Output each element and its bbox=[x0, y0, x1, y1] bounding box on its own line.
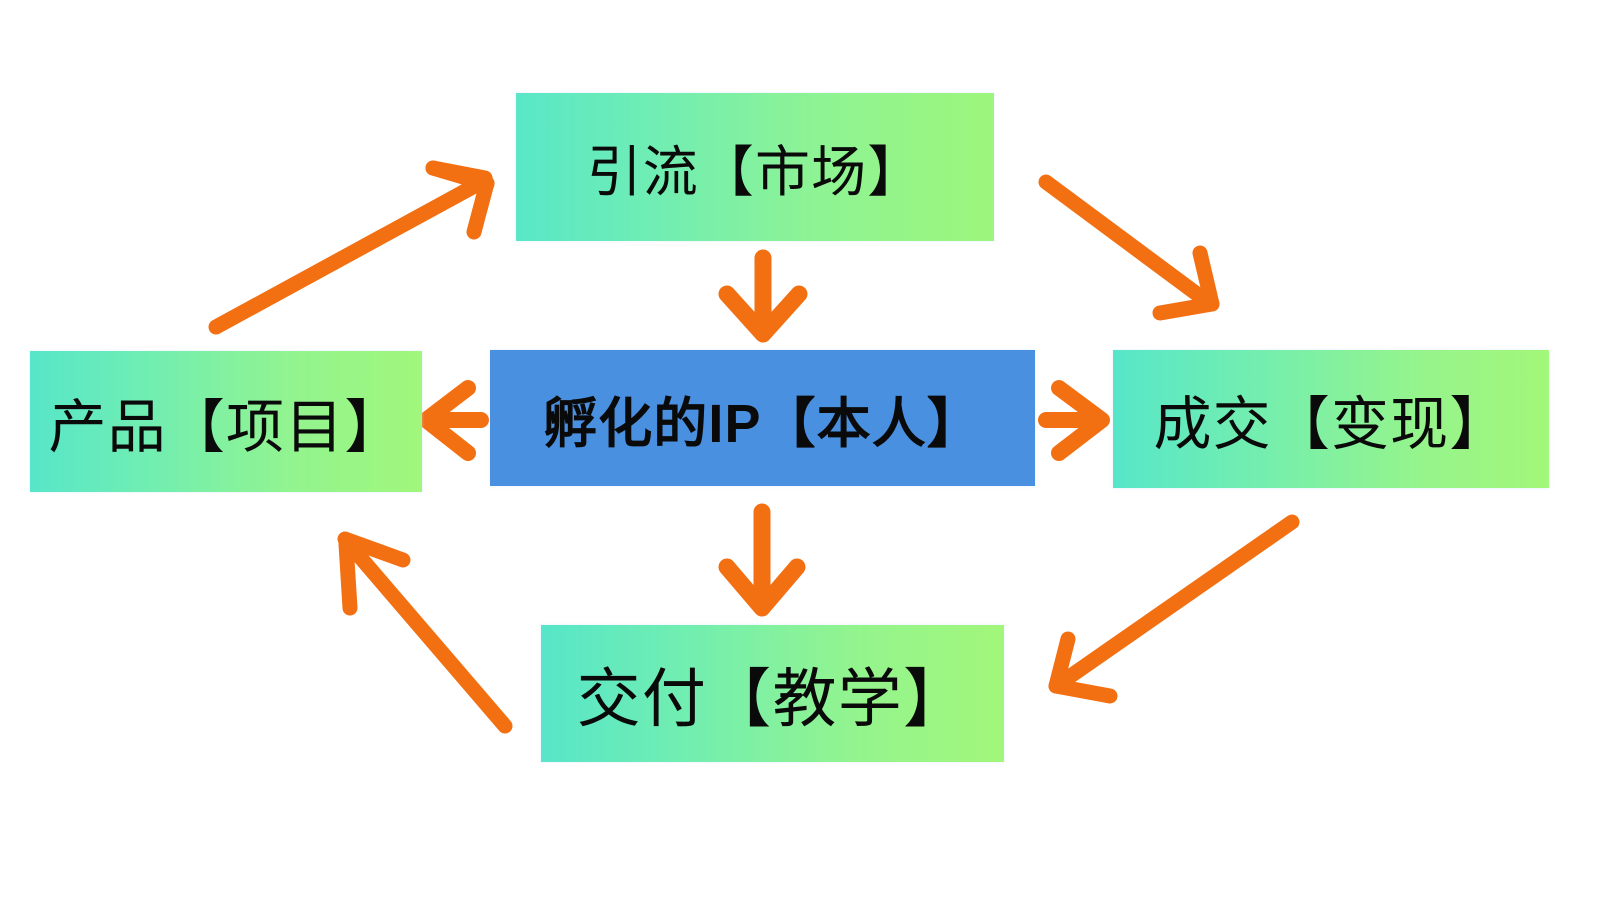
node-deal-label: 成交【变现】 bbox=[1154, 377, 1509, 461]
node-product[interactable]: 产品【项目】 bbox=[30, 351, 422, 492]
arrow-deal-to-delivery bbox=[1056, 522, 1292, 696]
node-delivery[interactable]: 交付【教学】 bbox=[541, 625, 1004, 762]
node-product-label: 产品【项目】 bbox=[49, 380, 404, 464]
arrow-ip-to-delivery bbox=[727, 512, 797, 608]
node-traffic[interactable]: 引流【市场】 bbox=[516, 93, 994, 241]
node-deal[interactable]: 成交【变现】 bbox=[1113, 350, 1549, 488]
arrow-ip-to-deal bbox=[1046, 388, 1102, 453]
arrow-delivery-to-product bbox=[345, 539, 505, 726]
node-incubated-ip-label: 孵化的IP【本人】 bbox=[543, 379, 982, 458]
node-traffic-label: 引流【市场】 bbox=[587, 127, 924, 207]
node-delivery-label: 交付【教学】 bbox=[577, 648, 969, 740]
arrow-ip-to-product bbox=[426, 388, 481, 453]
arrow-product-to-traffic bbox=[216, 168, 487, 327]
arrow-traffic-to-ip bbox=[727, 258, 799, 334]
node-incubated-ip[interactable]: 孵化的IP【本人】 bbox=[490, 350, 1035, 486]
arrow-traffic-to-deal bbox=[1046, 182, 1212, 313]
diagram-canvas: 引流【市场】 产品【项目】 孵化的IP【本人】 成交【变现】 交付【教学】 bbox=[0, 0, 1600, 900]
